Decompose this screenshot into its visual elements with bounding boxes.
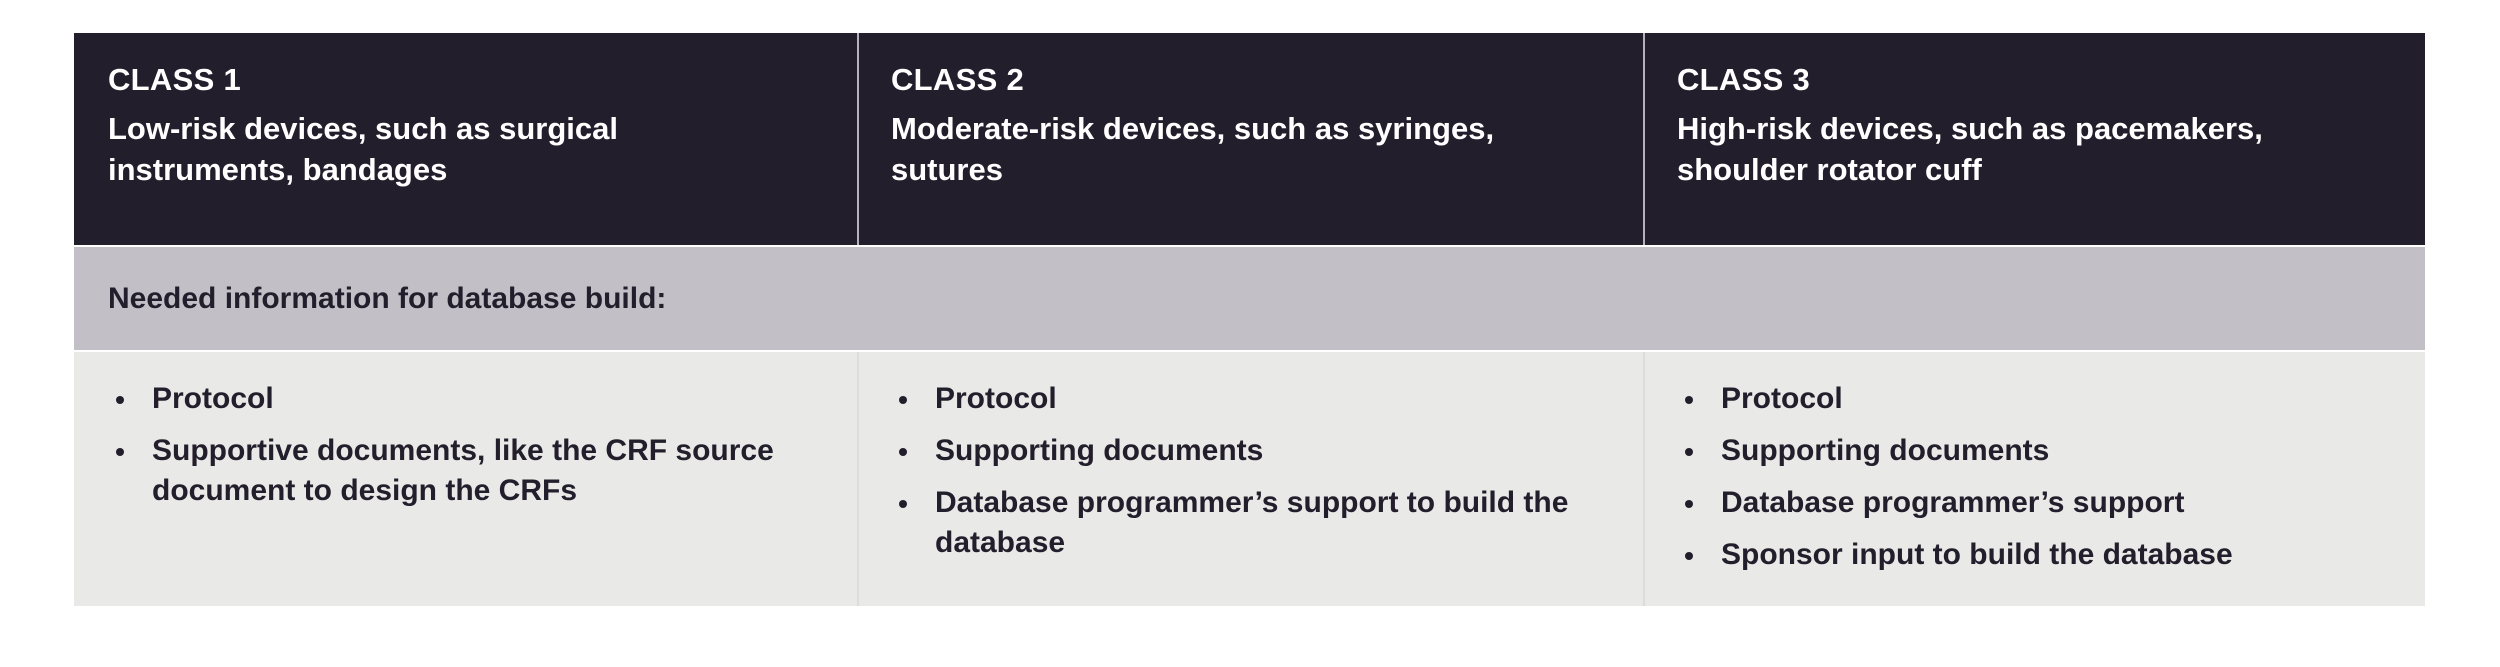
needed-information-band: Needed information for database build: [74,245,2425,352]
class-3-bullet-list: Protocol Supporting documents Database p… [1671,379,2395,575]
table-header-row: CLASS 1 Low-risk devices, such as surgic… [74,33,2425,245]
class-2-title: CLASS 2 [891,63,1609,97]
class-3-description: High-risk devices, such as pacemakers, s… [1677,108,2357,190]
class-2-bullet-list: Protocol Supporting documents Database p… [885,379,1613,563]
header-cell-class-1: CLASS 1 Low-risk devices, such as surgic… [74,33,857,245]
header-cell-class-2: CLASS 2 Moderate-risk devices, such as s… [857,33,1643,245]
list-item: Supportive documents, like the CRF sourc… [102,431,827,511]
class-3-title: CLASS 3 [1677,63,2391,97]
list-item: Database programmer’s support to build t… [885,483,1613,563]
list-item: Protocol [885,379,1613,419]
device-class-comparison-table: CLASS 1 Low-risk devices, such as surgic… [74,33,2425,610]
list-item: Database programmer’s support [1671,483,2395,523]
class-2-description: Moderate-risk devices, such as syringes,… [891,108,1571,190]
list-item: Supporting documents [1671,431,2395,471]
body-cell-class-1: Protocol Supportive documents, like the … [74,352,857,606]
list-item: Protocol [1671,379,2395,419]
header-cell-class-3: CLASS 3 High-risk devices, such as pacem… [1643,33,2425,245]
list-item: Supporting documents [885,431,1613,471]
table-body-row: Protocol Supportive documents, like the … [74,352,2425,606]
body-cell-class-3: Protocol Supporting documents Database p… [1643,352,2425,606]
needed-information-label: Needed information for database build: [108,281,666,317]
class-1-description: Low-risk devices, such as surgical instr… [108,108,788,190]
class-1-title: CLASS 1 [108,63,823,97]
body-cell-class-2: Protocol Supporting documents Database p… [857,352,1643,606]
class-1-bullet-list: Protocol Supportive documents, like the … [102,379,827,511]
list-item: Sponsor input to build the database [1671,535,2395,575]
list-item: Protocol [102,379,827,419]
